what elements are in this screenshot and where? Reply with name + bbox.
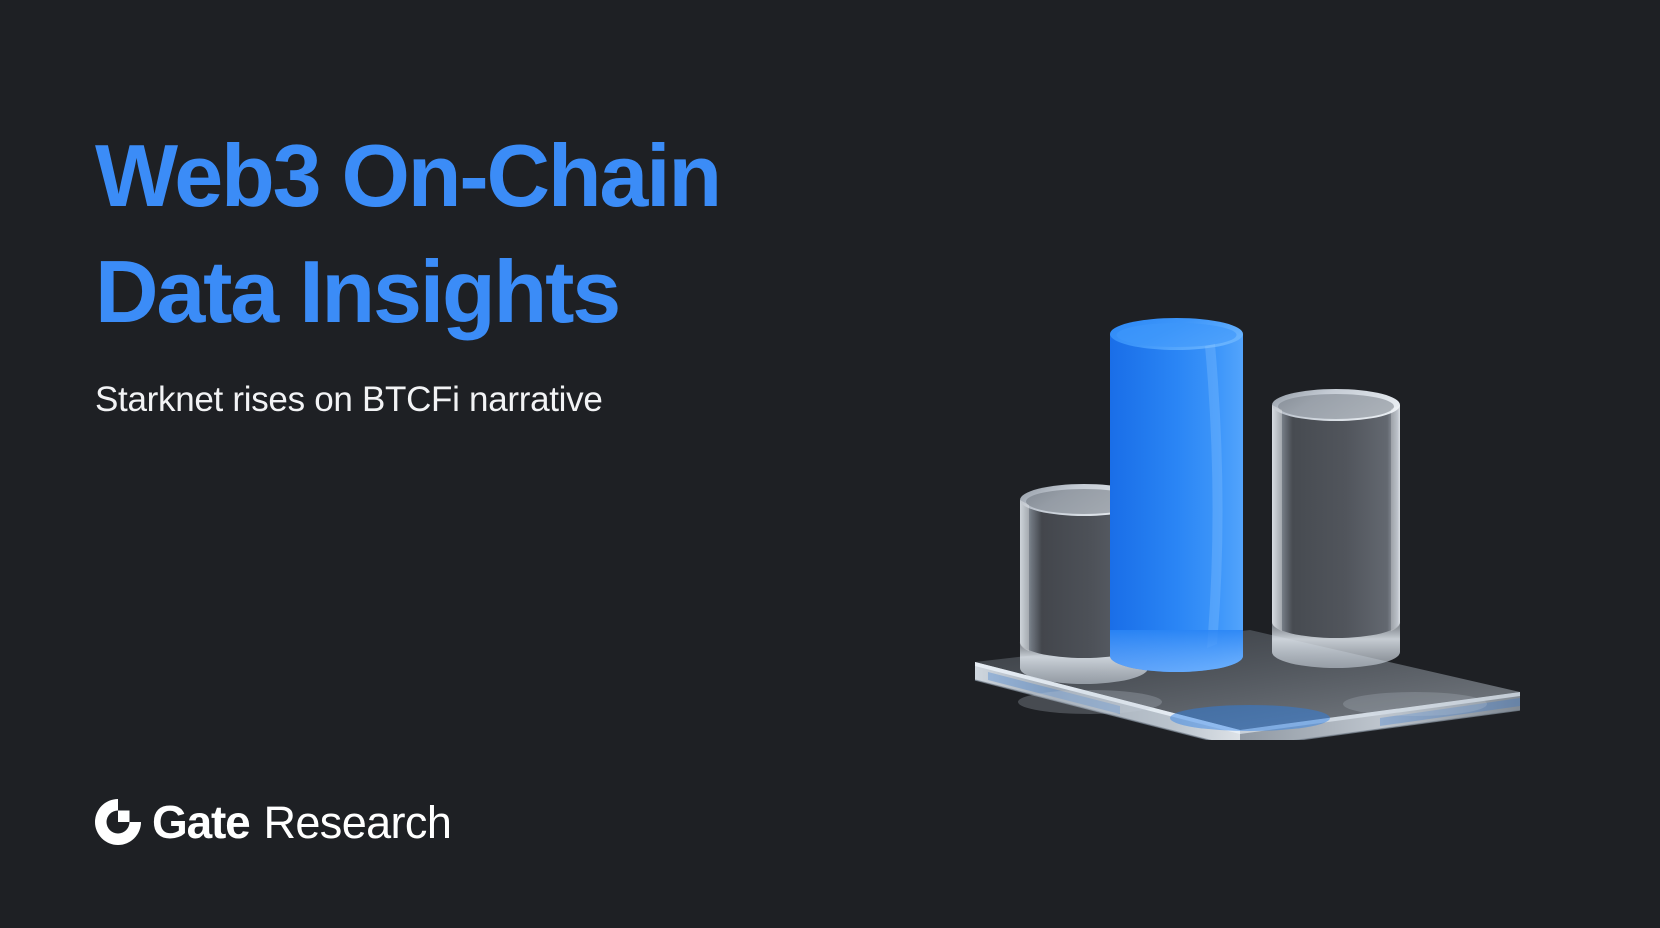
hero-artwork-3d-bar-chart: [820, 300, 1520, 740]
bar-right: [1272, 389, 1400, 668]
logo-wordmark: Gate Research: [152, 795, 451, 849]
gate-research-logo[interactable]: Gate Research: [95, 795, 451, 849]
page-subtitle: Starknet rises on BTCFi narrative: [95, 380, 915, 420]
bar-center: [1110, 318, 1243, 672]
gate-logo-mark-icon: [95, 799, 141, 845]
product-name: Research: [263, 797, 451, 849]
page-title: Web3 On-Chain Data Insights: [95, 118, 915, 350]
brand-name: Gate: [152, 795, 249, 849]
hero-text-block: Web3 On-Chain Data Insights Starknet ris…: [95, 118, 915, 420]
poster-canvas: Web3 On-Chain Data Insights Starknet ris…: [0, 0, 1660, 928]
